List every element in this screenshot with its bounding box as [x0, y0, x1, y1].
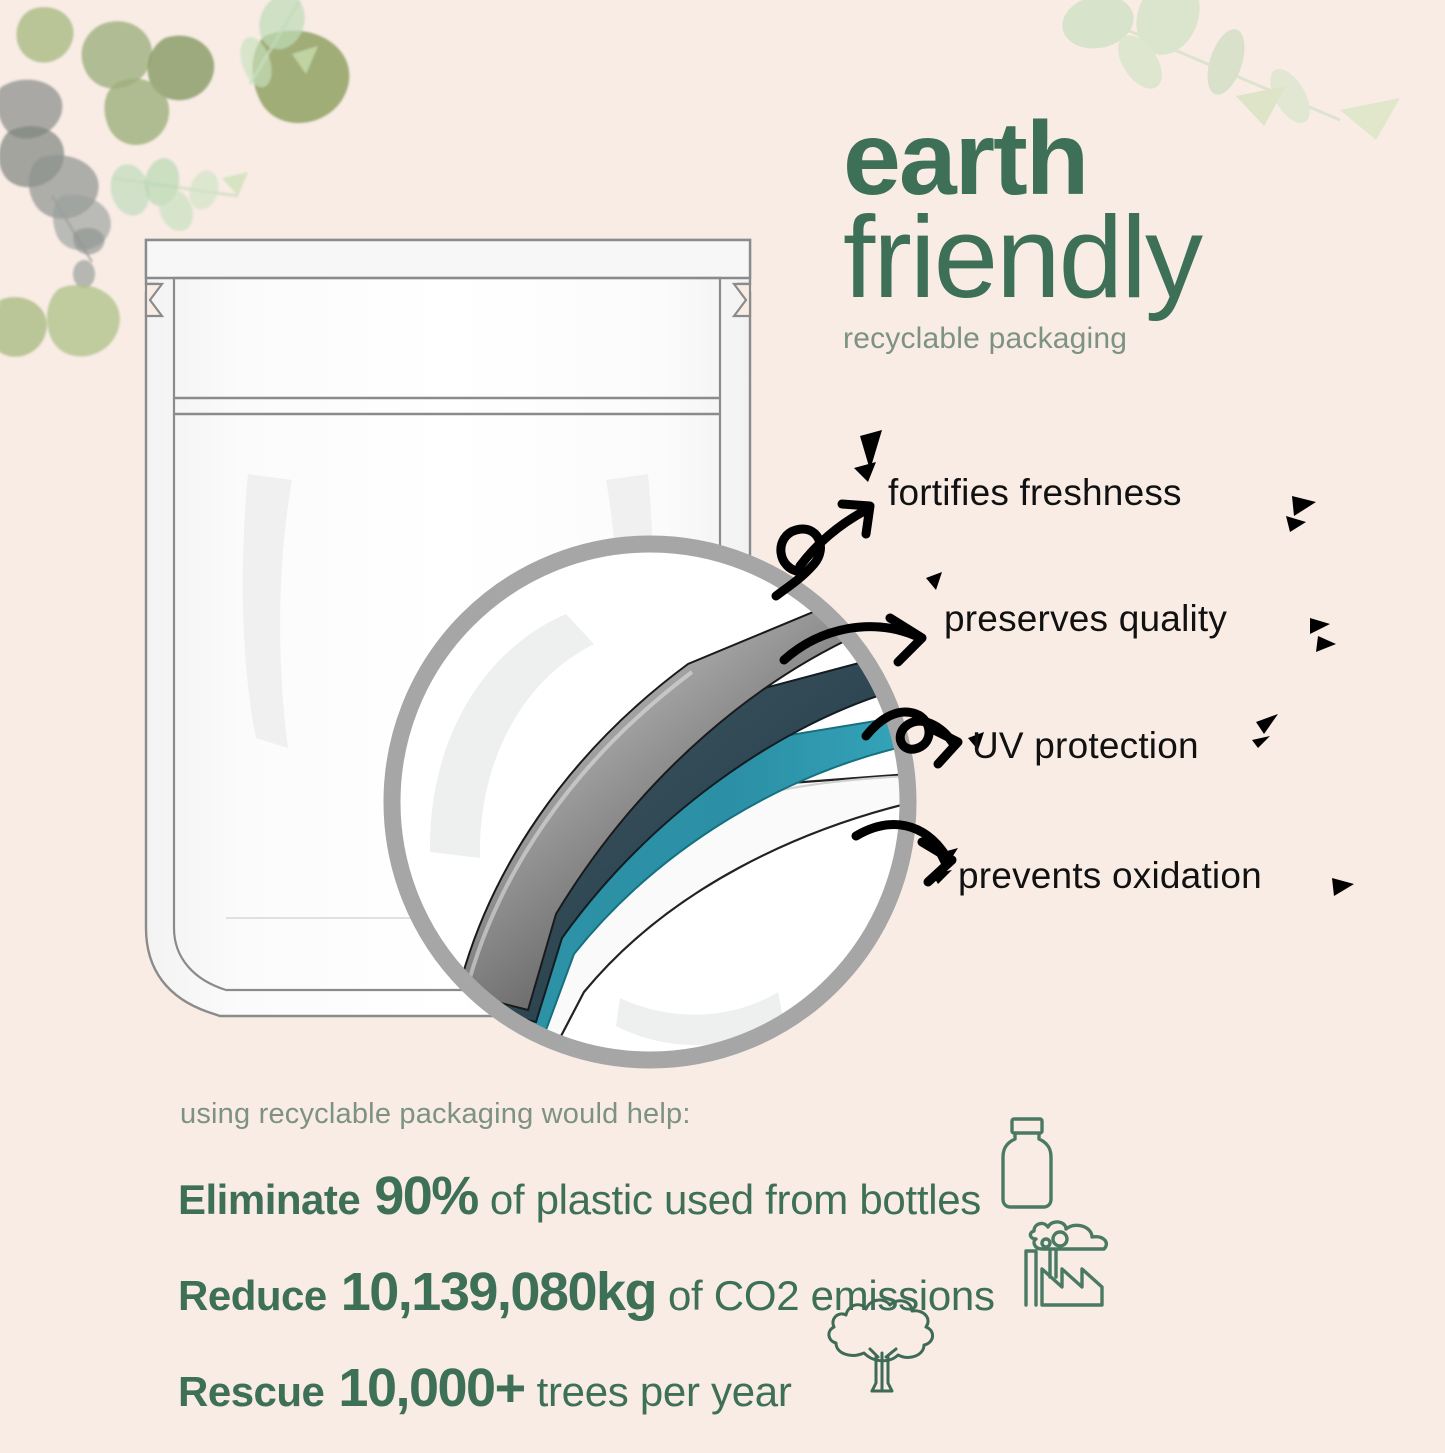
- poster-heading: earth friendly recyclable packaging: [843, 112, 1423, 356]
- stats-intro: using recyclable packaging would help:: [180, 1098, 1358, 1131]
- stat-number: 10,000+: [338, 1357, 524, 1419]
- spark-icon: [1252, 736, 1270, 748]
- spark-icon: [1316, 636, 1336, 652]
- stat-number: 90%: [374, 1165, 478, 1227]
- stat-tail: of plastic used from bottles: [490, 1176, 981, 1224]
- heading-line-friendly: friendly: [843, 202, 1423, 312]
- bottle-icon: [995, 1115, 1059, 1211]
- stat-row-eliminate: Eliminate 90% of plastic used from bottl…: [178, 1165, 1358, 1227]
- stat-row-reduce: Reduce 10,139,080kg of CO2 emissions: [178, 1261, 1358, 1323]
- spark-icon: [854, 462, 876, 482]
- spark-icon: [860, 430, 882, 470]
- stat-number: 10,139,080kg: [341, 1261, 656, 1323]
- feature-label-preserves-quality: preserves quality: [944, 598, 1227, 640]
- spark-icon: [1332, 878, 1354, 896]
- feature-label-fortifies-freshness: fortifies freshness: [888, 472, 1182, 514]
- stats-block: using recyclable packaging would help: E…: [178, 1098, 1358, 1453]
- stat-tail: trees per year: [537, 1368, 792, 1416]
- magnifier-detail: [370, 522, 930, 1082]
- poster-canvas: earth friendly recyclable packaging: [0, 0, 1445, 1446]
- tree-icon: [820, 1291, 944, 1411]
- spark-icon: [936, 848, 958, 870]
- spark-icon: [1310, 618, 1330, 634]
- spark-icon: [1286, 516, 1306, 532]
- stat-row-rescue: Rescue 10,000+ trees per year: [178, 1357, 1358, 1419]
- feature-label-prevents-oxidation: prevents oxidation: [958, 855, 1262, 897]
- stat-verb: Eliminate: [178, 1176, 360, 1224]
- stat-verb: Rescue: [178, 1368, 324, 1416]
- heading-subtitle: recyclable packaging: [843, 322, 1423, 356]
- feature-label-uv-protection: UV protection: [972, 725, 1199, 767]
- factory-icon: [1018, 1213, 1122, 1309]
- pouch-tear-strip: [146, 240, 750, 278]
- spark-icon: [1256, 714, 1278, 734]
- spark-icon: [1292, 496, 1316, 516]
- spark-icon: [932, 870, 952, 884]
- stat-verb: Reduce: [178, 1272, 327, 1320]
